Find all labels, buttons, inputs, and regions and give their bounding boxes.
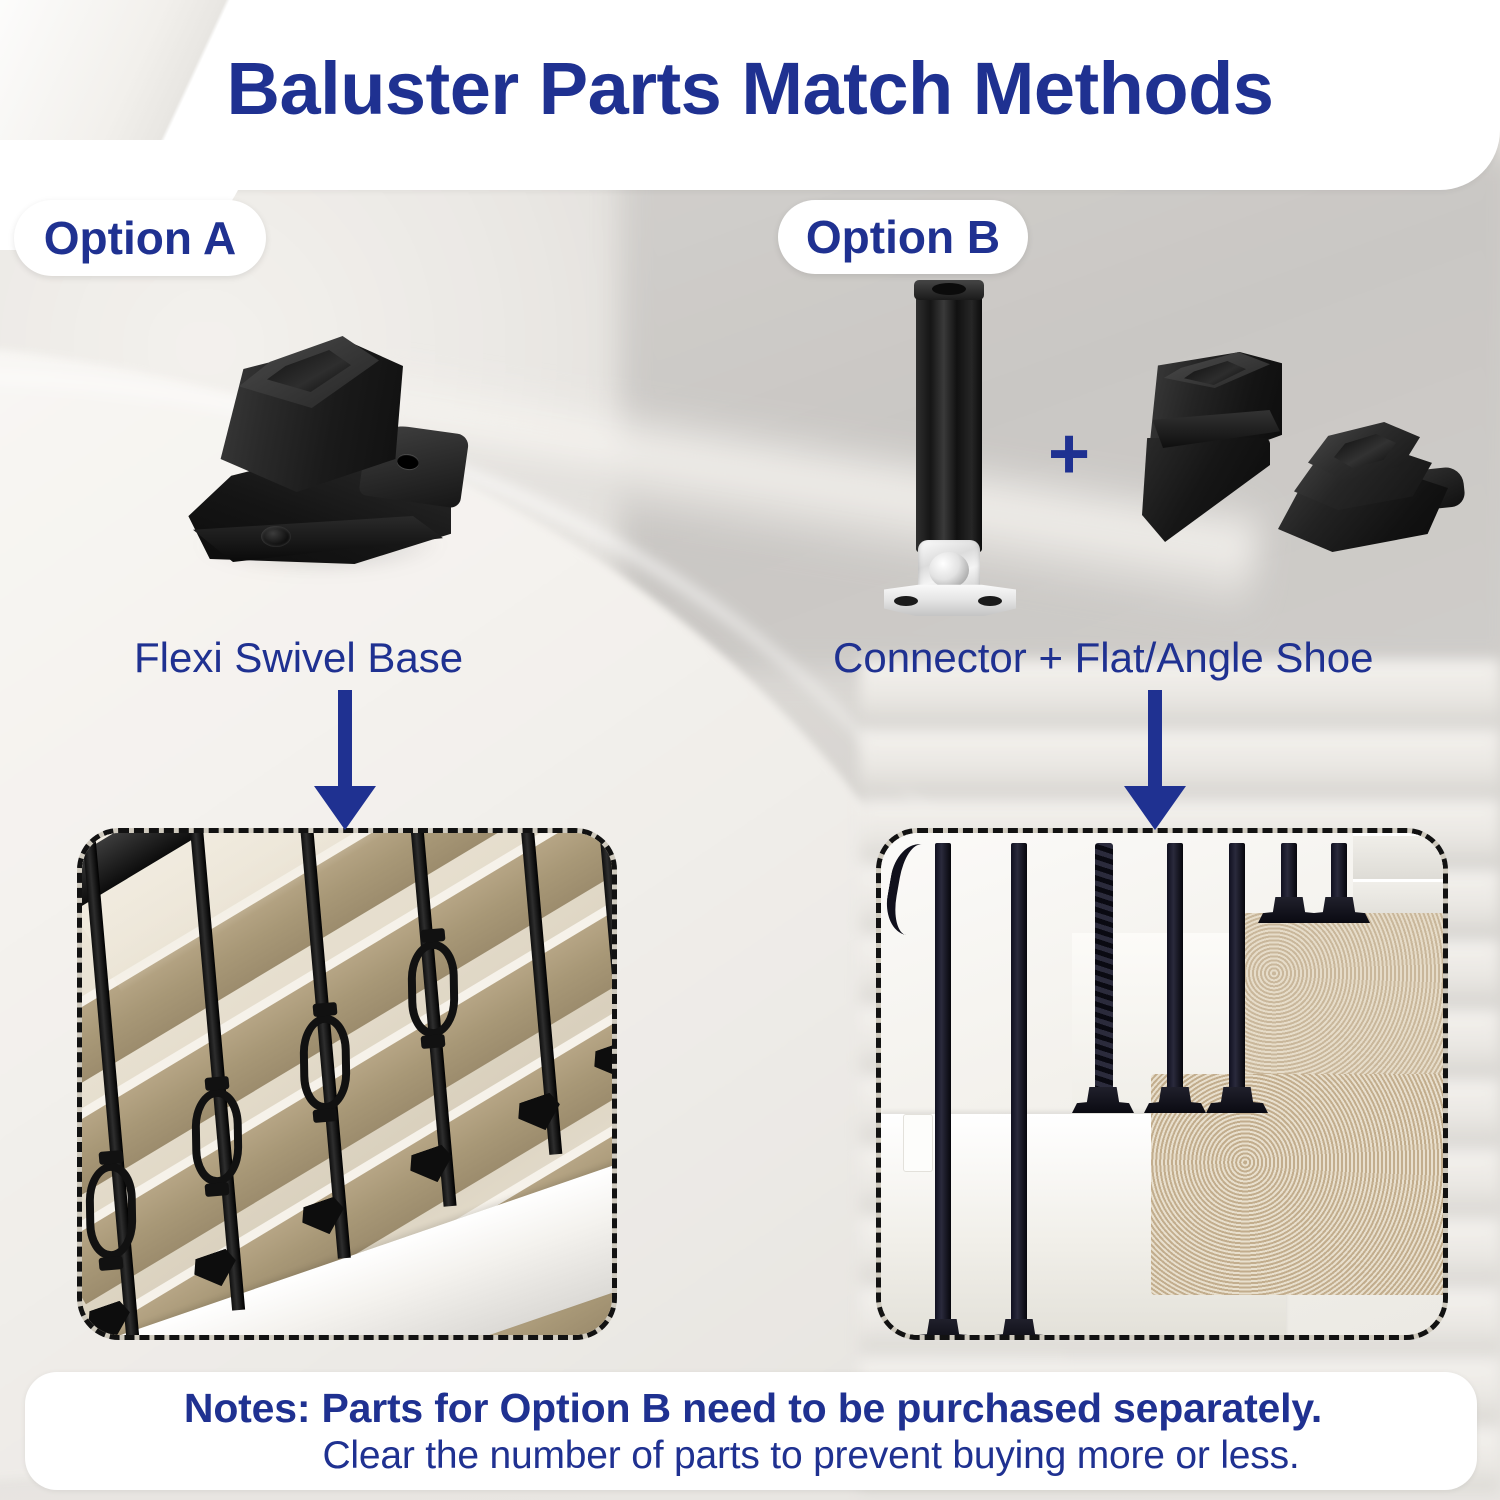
baluster: [1095, 843, 1113, 1101]
option-a-badge[interactable]: Option A: [14, 200, 266, 276]
flat-shoe-image: [1278, 416, 1468, 556]
flexi-swivel-base-image: [175, 330, 465, 585]
baluster: [1011, 843, 1027, 1333]
baluster-basket: [85, 1161, 136, 1262]
down-arrow-icon: [1110, 690, 1200, 830]
infographic-page: Baluster Parts Match Methods Option A Op…: [0, 0, 1500, 1500]
baluster: [1167, 843, 1183, 1101]
baluster: [935, 843, 951, 1333]
notes-line-1: Notes: Parts for Option B need to be pur…: [25, 1385, 1477, 1432]
baluster-basket: [191, 1087, 242, 1188]
option-a-part-label: Flexi Swivel Base: [134, 634, 463, 682]
baluster: [1229, 843, 1245, 1101]
notes-line-2: Clear the number of parts to prevent buy…: [25, 1434, 1477, 1478]
baluster-basket: [299, 1013, 350, 1114]
angle-shoe-image: [1140, 352, 1300, 542]
baluster-connector-image: [880, 276, 1030, 620]
notes-box: Notes: Parts for Option B need to be pur…: [25, 1372, 1477, 1490]
down-arrow-icon: [300, 690, 390, 830]
option-b-badge[interactable]: Option B: [778, 200, 1028, 274]
page-title: Baluster Parts Match Methods: [0, 46, 1500, 131]
baluster-basket: [407, 939, 458, 1040]
plus-icon: +: [1048, 428, 1104, 484]
option-b-install-photo: [876, 828, 1448, 1340]
option-a-install-photo: [77, 828, 617, 1340]
option-b-part-label: Connector + Flat/Angle Shoe: [833, 634, 1374, 682]
